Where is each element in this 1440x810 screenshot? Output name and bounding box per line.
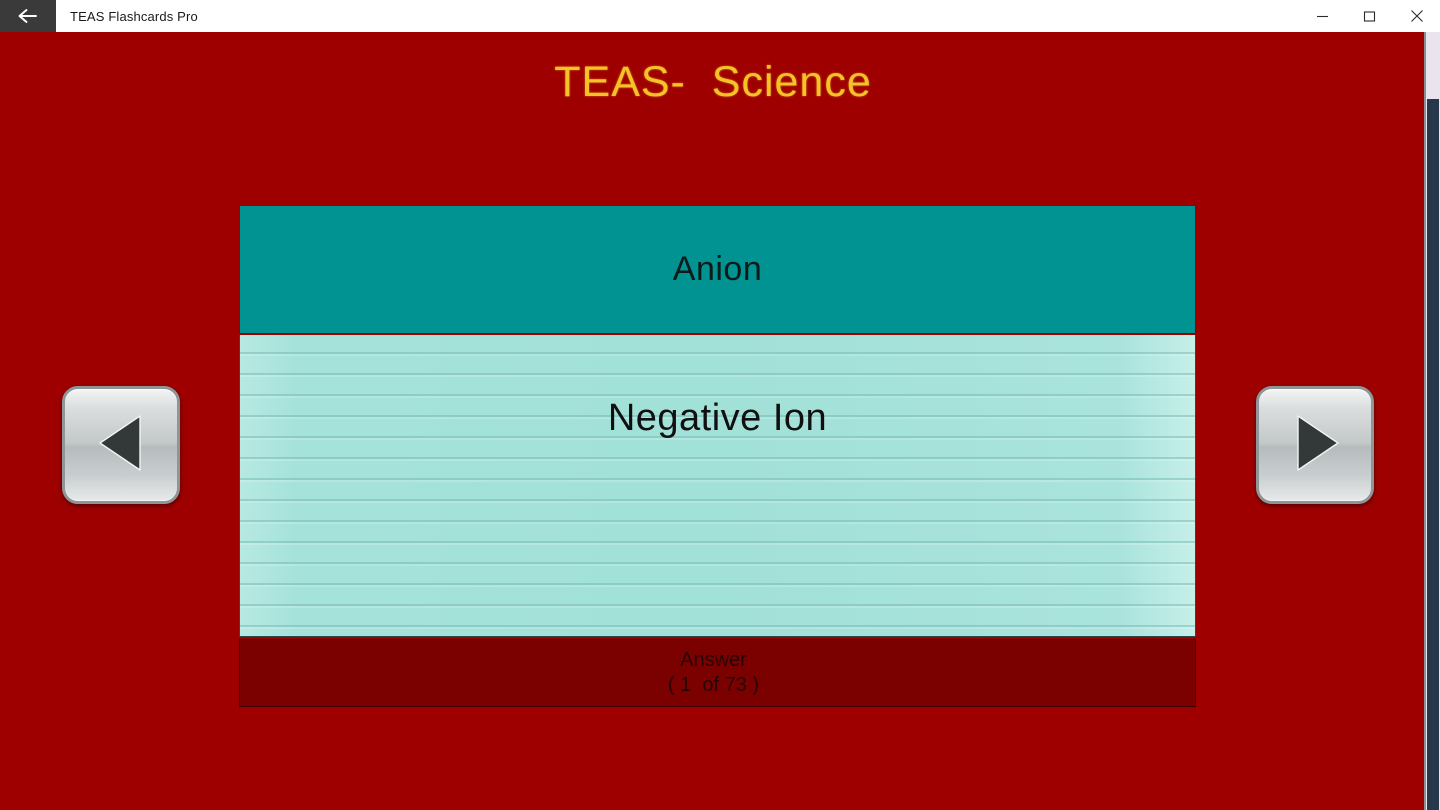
window-title: TEAS Flashcards Pro: [56, 0, 1299, 32]
card-counter: ( 1 of 73 ): [668, 673, 759, 698]
flashcard-answer-text: Negative Ion: [608, 397, 827, 440]
close-button[interactable]: [1393, 0, 1440, 32]
flashcard-question-panel: Anion: [239, 205, 1196, 334]
page-title: TEAS- Science: [0, 58, 1426, 107]
back-arrow-icon: [17, 8, 39, 24]
triangle-left-icon: [92, 412, 150, 479]
flashcard-answer-panel: Negative Ion: [239, 335, 1196, 637]
close-icon: [1410, 9, 1424, 23]
window-controls: [1299, 0, 1440, 32]
app-content: TEAS- Science Anion Negative Ion Answer …: [0, 32, 1440, 810]
next-card-button[interactable]: [1256, 386, 1374, 504]
back-button[interactable]: [0, 0, 56, 32]
previous-card-button[interactable]: [62, 386, 180, 504]
scrollbar-thumb[interactable]: [1427, 99, 1439, 810]
minimize-button[interactable]: [1299, 0, 1346, 32]
vertical-scrollbar[interactable]: [1426, 32, 1440, 810]
flashcard[interactable]: Anion Negative Ion Answer ( 1 of 73 ): [239, 205, 1196, 740]
flashcard-footer[interactable]: Answer ( 1 of 73 ): [239, 639, 1196, 707]
minimize-icon: [1316, 10, 1329, 23]
maximize-icon: [1363, 10, 1376, 23]
triangle-right-icon: [1286, 412, 1344, 479]
flashcard-question-text: Anion: [673, 250, 762, 289]
maximize-button[interactable]: [1346, 0, 1393, 32]
answer-label: Answer: [680, 648, 747, 673]
window-titlebar: TEAS Flashcards Pro: [0, 0, 1440, 32]
